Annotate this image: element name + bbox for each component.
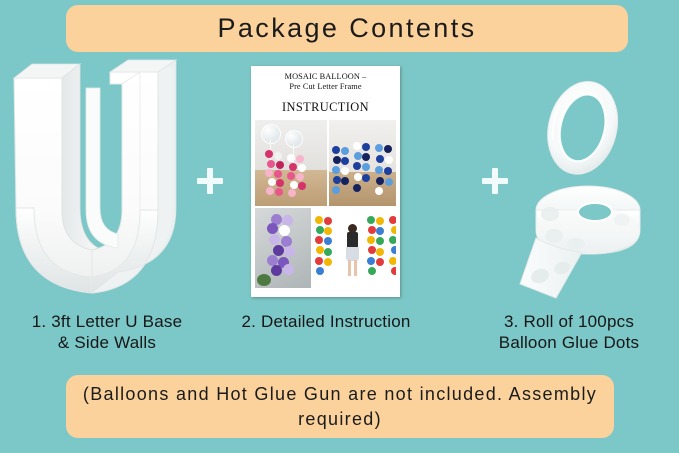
booklet-photo-row-bottom [255,206,396,288]
item-1-caption: 1. 3ft Letter U Base & Side Walls [2,312,212,353]
booklet-title-line-2: Pre Cut Letter Frame [255,82,396,92]
page-title: Package Contents [217,15,476,42]
letter-u-inner-panel [86,88,118,248]
photo-pink-white-mosaic-letters [255,120,327,206]
letter-u-foam-board [6,58,196,308]
glue-dot-ring-upper [538,74,627,182]
glue-dot-roll-lower [520,186,640,298]
booklet-title-line-1: MOSAIC BALLOON – [255,72,396,82]
plus-icon-1 [197,168,223,194]
booklet-photo-grid [255,120,396,293]
photo-blue-one-mosaic-letters [329,120,396,206]
item-2-caption: 2. Detailed Instruction [238,312,414,333]
roll-core-hole [578,203,612,221]
item-1-caption-line-2: & Side Walls [2,333,212,354]
item-3-caption-line-1: 3. Roll of 100pcs [462,312,676,333]
instruction-booklet: MOSAIC BALLOON – Pre Cut Letter Frame IN… [251,66,400,297]
booklet-photo-row-top [255,120,396,206]
item-3-caption-line-2: Balloon Glue Dots [462,333,676,354]
glue-dots-icon [498,62,673,307]
item-3-caption: 3. Roll of 100pcs Balloon Glue Dots [462,312,676,353]
package-contents-infographic: Package Contents [0,0,679,453]
glue-dot-rolls [498,62,673,307]
item-1-caption-line-1: 1. 3ft Letter U Base [2,312,212,333]
booklet-title: MOSAIC BALLOON – Pre Cut Letter Frame [255,72,396,93]
booklet-header: MOSAIC BALLOON – Pre Cut Letter Frame IN… [251,66,400,117]
footer-banner: (Balloons and Hot Glue Gun are not inclu… [66,375,614,438]
booklet-subtitle: INSTRUCTION [255,100,396,115]
letter-u-icon [6,58,196,308]
disclaimer-text: (Balloons and Hot Glue Gun are not inclu… [66,382,614,431]
header-banner: Package Contents [66,5,628,52]
photo-colorful-two-mosaic-letters-with-child [313,208,396,288]
photo-purple-s-mosaic-letter [255,208,311,288]
